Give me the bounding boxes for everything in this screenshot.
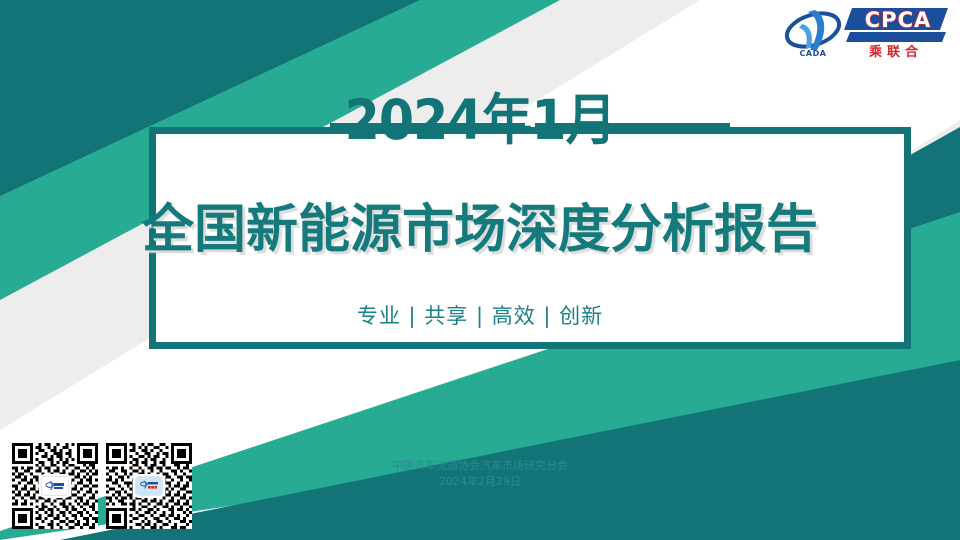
svg-text:乘联合: 乘联合: [868, 44, 923, 60]
cpca-logo: CADA CPCA 乘联合: [780, 4, 948, 60]
svg-text:CPCA: CPCA: [865, 8, 931, 32]
svg-text:CADA: CADA: [800, 49, 827, 58]
qr-code-right[interactable]: [106, 443, 192, 529]
qr-code-group: [12, 443, 192, 529]
report-period: 2024年1月: [38, 85, 921, 155]
slogan: 专业 | 共享 | 高效 | 创新: [0, 300, 960, 332]
qr-code-left-logo: [41, 476, 69, 496]
slide-canvas: CADA CPCA 乘联合 2024年1月 全国新能源市场深度分析报告 专业 |…: [0, 0, 960, 540]
qr-code-left[interactable]: [12, 443, 98, 529]
page-title: 全国新能源市场深度分析报告: [0, 198, 960, 262]
qr-code-right-logo: [135, 476, 163, 496]
cada-mark-icon: [45, 480, 65, 492]
cpca-mark-icon: [139, 480, 159, 492]
